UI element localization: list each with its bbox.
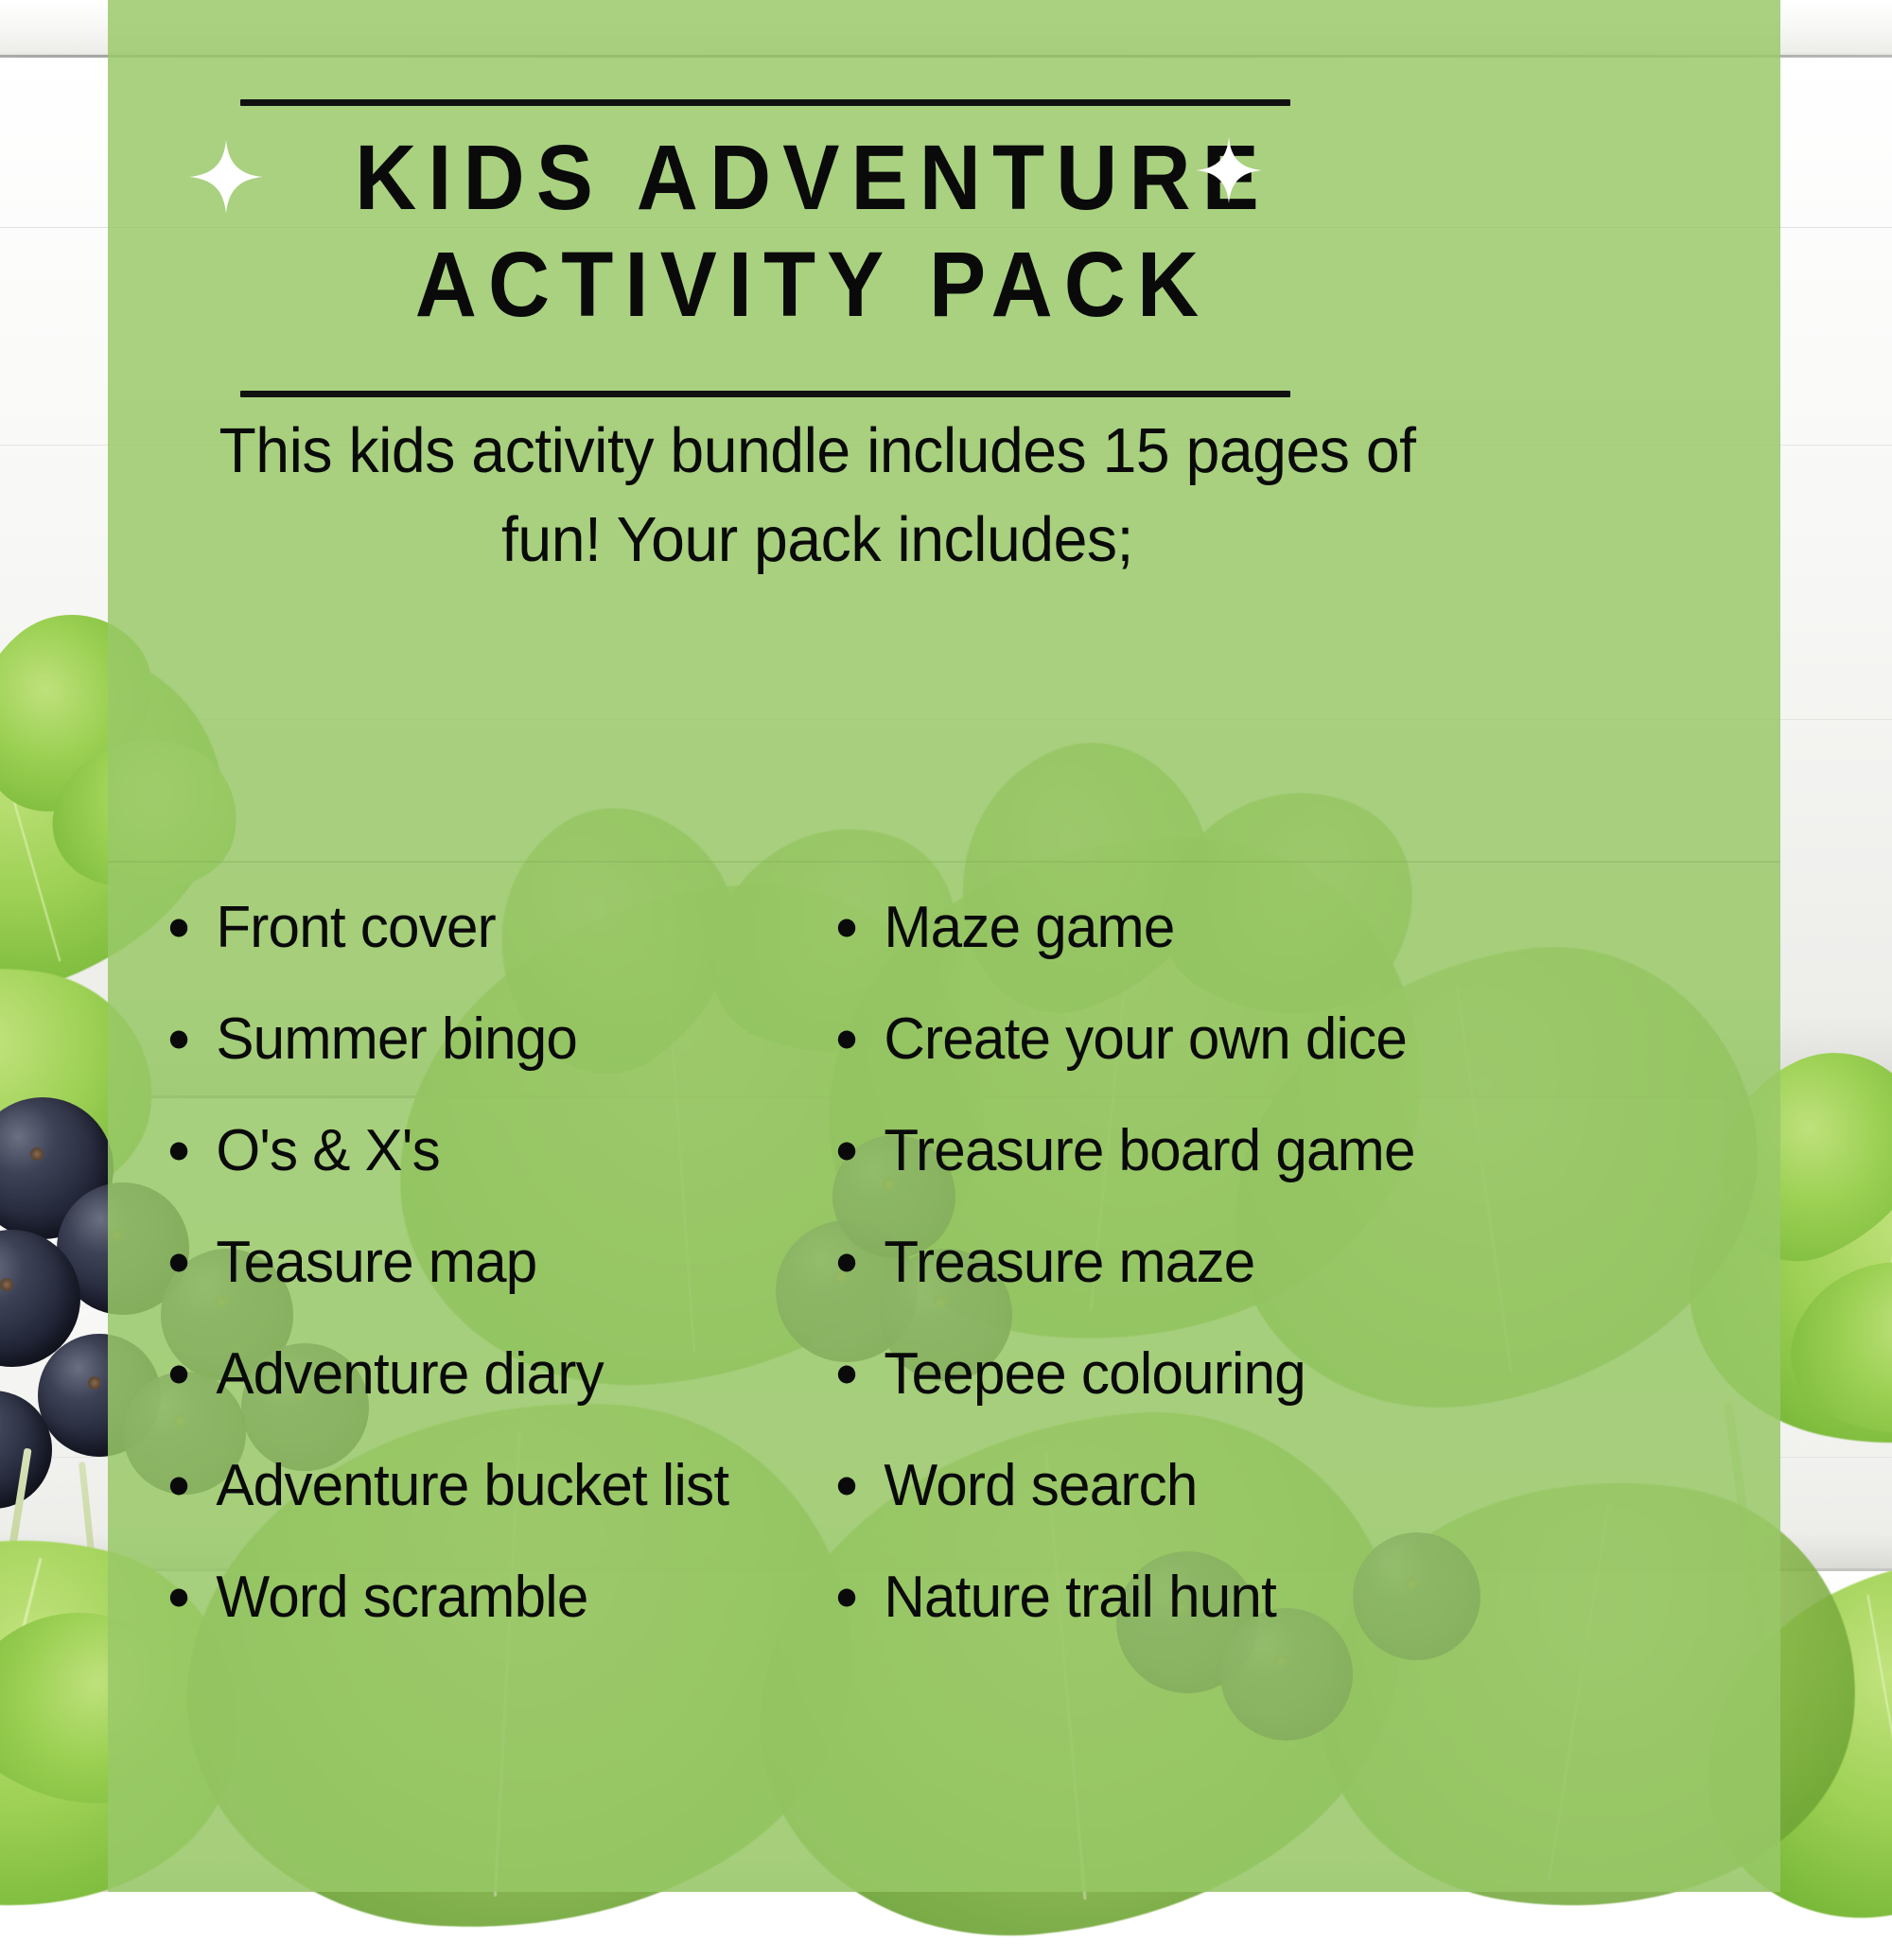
list-item: Treasure board game	[832, 1122, 1717, 1181]
page-title: KIDS ADVENTURE ACTIVITY PACK	[108, 125, 1517, 338]
list-item: Word search	[832, 1457, 1717, 1515]
list-item: Nature trail hunt	[832, 1568, 1717, 1627]
list-item: Treasure maze	[832, 1234, 1717, 1292]
contents-list-right: Maze game Create your own dice Treasure …	[798, 899, 1744, 1680]
list-item: Front cover	[165, 899, 780, 957]
list-item: Teasure map	[165, 1234, 780, 1292]
list-item: Word scramble	[165, 1568, 780, 1627]
list-item: Adventure diary	[165, 1345, 780, 1404]
poster-content: KIDS ADVENTURE ACTIVITY PACK This kids a…	[108, 0, 1780, 1892]
sparkle-icon	[1196, 137, 1262, 203]
contents-list-left: Front cover Summer bingo O's & X's Teasu…	[108, 899, 798, 1680]
title-rule-bottom	[240, 391, 1290, 397]
list-item: Summer bingo	[165, 1010, 780, 1069]
list-item: Maze game	[832, 899, 1717, 957]
list-item: Adventure bucket list	[165, 1457, 780, 1515]
list-item: O's & X's	[165, 1122, 780, 1181]
list-item: Teepee colouring	[832, 1345, 1717, 1404]
title-line-1: KIDS ADVENTURE	[157, 125, 1468, 232]
title-line-2: ACTIVITY PACK	[157, 232, 1468, 339]
description-text: This kids activity bundle includes 15 pa…	[191, 407, 1445, 585]
list-item: Create your own dice	[832, 1010, 1717, 1069]
title-rule-top	[240, 99, 1290, 106]
contents-lists: Front cover Summer bingo O's & X's Teasu…	[108, 899, 1780, 1680]
